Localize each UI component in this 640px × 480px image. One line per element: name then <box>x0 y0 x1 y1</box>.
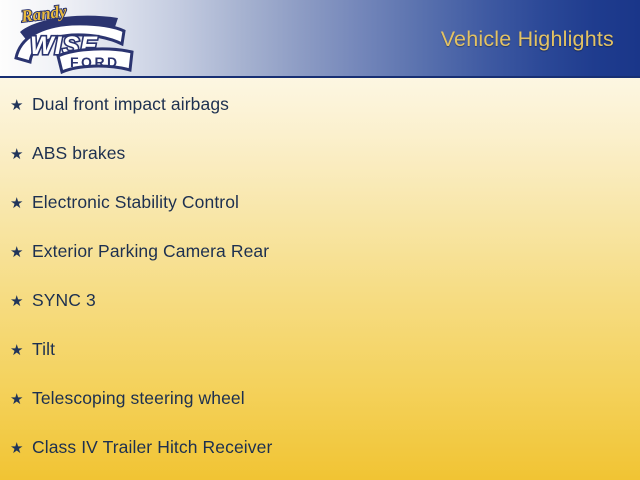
page-title: Vehicle Highlights <box>441 27 614 52</box>
vehicle-highlights-list: ★ Dual front impact airbags ★ ABS brakes… <box>0 78 640 480</box>
star-bullet-icon: ★ <box>10 392 32 407</box>
list-item: ★ Electronic Stability Control <box>0 194 640 243</box>
list-item-label: Telescoping steering wheel <box>32 390 640 408</box>
list-item: ★ SYNC 3 <box>0 292 640 341</box>
star-bullet-icon: ★ <box>10 343 32 358</box>
logo-ford-text: FORD <box>70 54 120 70</box>
star-bullet-icon: ★ <box>10 147 32 162</box>
list-item: ★ Exterior Parking Camera Rear <box>0 243 640 292</box>
list-item: ★ Dual front impact airbags <box>0 96 640 145</box>
list-item-label: Class IV Trailer Hitch Receiver <box>32 439 640 457</box>
star-bullet-icon: ★ <box>10 294 32 309</box>
list-item: ★ Class IV Trailer Hitch Receiver <box>0 439 640 480</box>
list-item-label: Electronic Stability Control <box>32 194 640 212</box>
list-item: ★ Tilt <box>0 341 640 390</box>
list-item-label: ABS brakes <box>32 145 640 163</box>
list-item-label: SYNC 3 <box>32 292 640 310</box>
page-header: WISE FORD Randy Vehicle Highlights <box>0 0 640 78</box>
list-item-label: Exterior Parking Camera Rear <box>32 243 640 261</box>
star-bullet-icon: ★ <box>10 98 32 113</box>
star-bullet-icon: ★ <box>10 441 32 456</box>
star-bullet-icon: ★ <box>10 196 32 211</box>
vehicle-highlights-page: WISE FORD Randy Vehicle Highlights ★ Dua… <box>0 0 640 480</box>
list-item: ★ ABS brakes <box>0 145 640 194</box>
list-item-label: Tilt <box>32 341 640 359</box>
list-item: ★ Telescoping steering wheel <box>0 390 640 439</box>
star-bullet-icon: ★ <box>10 245 32 260</box>
randy-wise-ford-logo: WISE FORD Randy <box>6 2 142 76</box>
list-item-label: Dual front impact airbags <box>32 96 640 114</box>
